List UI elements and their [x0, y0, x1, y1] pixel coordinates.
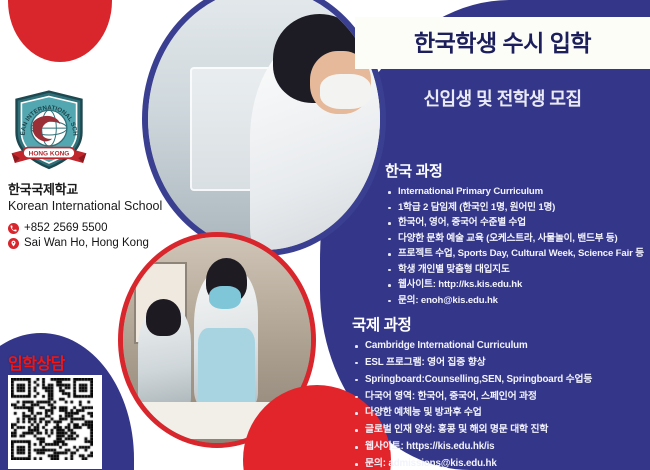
red-circle-decoration-top — [8, 0, 112, 62]
list-item: Springboard:Counselling,SEN, Springboard… — [352, 372, 648, 389]
contact-address-row: Sai Wan Ho, Hong Kong — [8, 237, 218, 249]
phone-icon — [8, 223, 19, 234]
contact-phone-row: +852 2569 5500 — [8, 222, 218, 234]
admissions-poster: KOREAN INTERNATIONAL SCHOOL HONG KONG 한국… — [0, 0, 650, 470]
school-name-english: Korean International School — [8, 199, 198, 215]
list-item: 프로젝트 수업, Sports Day, Cultural Week, Scie… — [385, 246, 647, 262]
banner-title: 한국학생 수시 입학 — [355, 24, 650, 58]
list-item: 학생 개인별 맞춤형 대입지도 — [385, 262, 647, 278]
list-item: 다양한 예체능 및 방과후 수업 — [352, 405, 648, 422]
list-item: ESL 프로그램: 영어 집중 향상 — [352, 355, 648, 372]
list-item: 1학급 2 담임제 (한국인 1명, 원어민 1명) — [385, 200, 647, 216]
international-curriculum-list: Cambridge International CurriculumESL 프로… — [352, 338, 648, 470]
list-item: International Primary Curriculum — [385, 184, 647, 200]
list-item: 웹사이트: http://ks.kis.edu.hk — [385, 277, 647, 293]
qr-label: 입학상담 — [8, 350, 65, 374]
qr-code[interactable] — [8, 375, 102, 469]
contact-info: +852 2569 5500 Sai Wan Ho, Hong Kong — [8, 222, 218, 252]
list-item: 한국어, 영어, 중국어 수준별 수업 — [385, 215, 647, 231]
list-item: 문의: enoh@kis.edu.hk — [385, 293, 647, 309]
section-international-curriculum: 국제 과정 Cambridge International Curriculum… — [352, 313, 648, 470]
list-item: 다국어 영역: 한국어, 중국어, 스페인어 과정 — [352, 389, 648, 406]
section-title: 한국 과정 — [385, 160, 647, 181]
banner-subtitle: 신입생 및 전학생 모집 — [355, 85, 650, 111]
crest-ribbon-text: HONG KONG — [29, 150, 70, 157]
photo-science-lab — [142, 0, 386, 256]
section-korean-curriculum: 한국 과정 International Primary Curriculum1학… — [385, 160, 647, 308]
list-item: 문의: admissions@kis.edu.hk — [352, 456, 648, 470]
list-item: 다양한 문화 예술 교육 (오케스트라, 사물놀이, 밴드부 등) — [385, 231, 647, 247]
school-crest-logo: KOREAN INTERNATIONAL SCHOOL HONG KONG — [8, 90, 90, 176]
section-title: 국제 과정 — [352, 313, 648, 335]
school-name-block: 한국국제학교 Korean International School — [8, 183, 198, 215]
school-name-korean: 한국국제학교 — [8, 183, 198, 198]
contact-address-text: Sai Wan Ho, Hong Kong — [24, 237, 149, 249]
contact-phone-text: +852 2569 5500 — [24, 222, 107, 234]
list-item: Cambridge International Curriculum — [352, 338, 648, 355]
list-item: 글로벌 인재 양성: 홍콩 및 해외 명문 대학 진학 — [352, 422, 648, 439]
location-pin-icon — [8, 238, 19, 249]
list-item: 웹사이트: https://kis.edu.hk/is — [352, 439, 648, 456]
korean-curriculum-list: International Primary Curriculum1학급 2 담임… — [385, 184, 647, 308]
